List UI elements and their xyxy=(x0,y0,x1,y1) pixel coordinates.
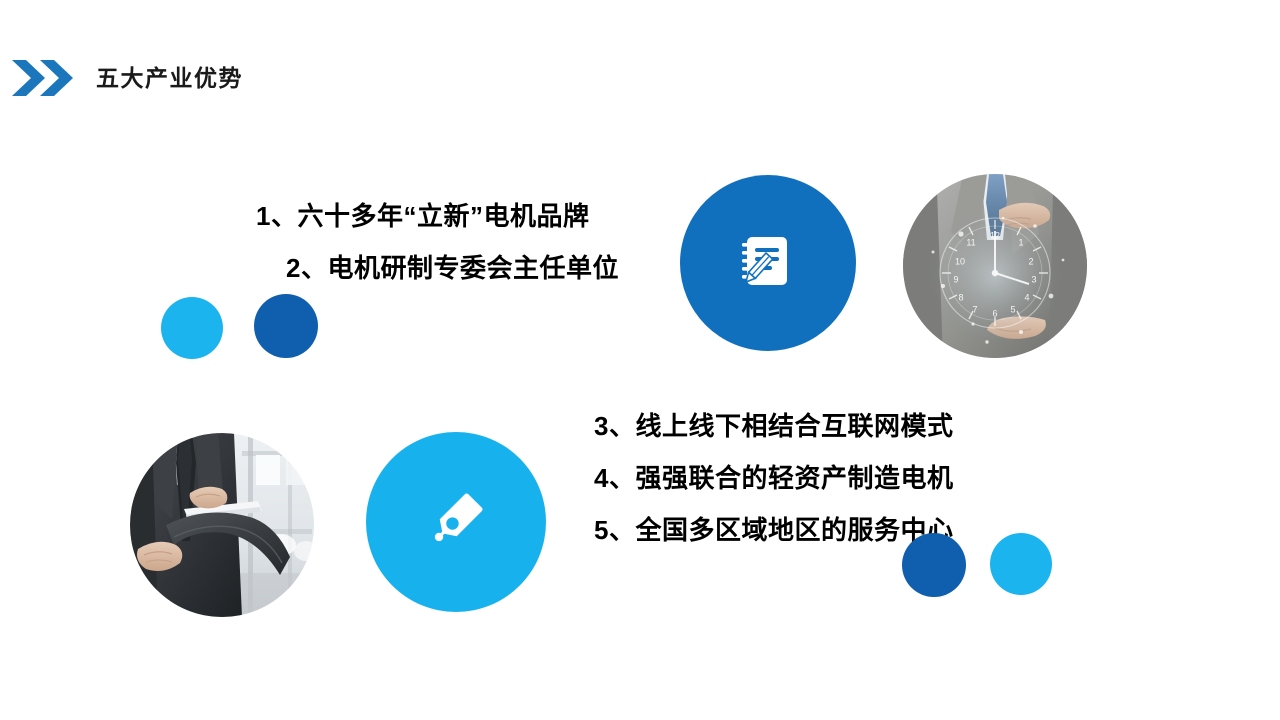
double-chevron-right-icon xyxy=(12,59,74,97)
slide-header: 五大产业优势 xyxy=(0,56,243,100)
svg-text:8: 8 xyxy=(958,292,963,302)
slide-root: 五大产业优势 1、六十多年“立新”电机品牌 2、电机研制专委会主任单位 3、线上… xyxy=(0,0,1280,720)
advantage-item-3: 3、线上线下相结合互联网模式 xyxy=(594,400,953,452)
svg-text:9: 9 xyxy=(953,274,958,284)
svg-text:6: 6 xyxy=(992,308,997,318)
svg-text:4: 4 xyxy=(1024,292,1029,302)
svg-text:7: 7 xyxy=(972,304,977,314)
photo-businessman-clock: 12 1 2 3 4 5 6 7 8 9 10 11 xyxy=(903,174,1087,358)
page-title: 五大产业优势 xyxy=(96,67,243,90)
dot-navy-top-left xyxy=(254,294,318,358)
svg-text:2: 2 xyxy=(1028,256,1033,266)
icon-circle-notepad xyxy=(680,175,856,351)
advantage-item-1: 1、六十多年“立新”电机品牌 xyxy=(256,190,619,242)
advantages-bottom-list: 3、线上线下相结合互联网模式 4、强强联合的轻资产制造电机 5、全国多区域地区的… xyxy=(594,400,953,556)
dot-navy-bottom-right xyxy=(902,533,966,597)
advantage-item-2: 2、电机研制专委会主任单位 xyxy=(256,242,619,294)
advantage-item-5: 5、全国多区域地区的服务中心 xyxy=(594,504,953,556)
svg-text:3: 3 xyxy=(1031,274,1036,284)
dot-cyan-top-left xyxy=(161,297,223,359)
pen-nib-icon xyxy=(417,481,495,564)
photo-businessman-folder xyxy=(130,433,314,617)
svg-text:5: 5 xyxy=(1010,304,1015,314)
notepad-pencil-icon xyxy=(736,229,800,298)
svg-text:12: 12 xyxy=(990,230,1000,240)
svg-text:11: 11 xyxy=(966,237,975,247)
advantages-top-list: 1、六十多年“立新”电机品牌 2、电机研制专委会主任单位 xyxy=(256,190,619,294)
icon-circle-pen xyxy=(366,432,546,612)
advantage-item-4: 4、强强联合的轻资产制造电机 xyxy=(594,452,953,504)
dot-cyan-bottom-right xyxy=(990,533,1052,595)
svg-text:1: 1 xyxy=(1018,237,1023,247)
svg-text:10: 10 xyxy=(955,256,965,266)
